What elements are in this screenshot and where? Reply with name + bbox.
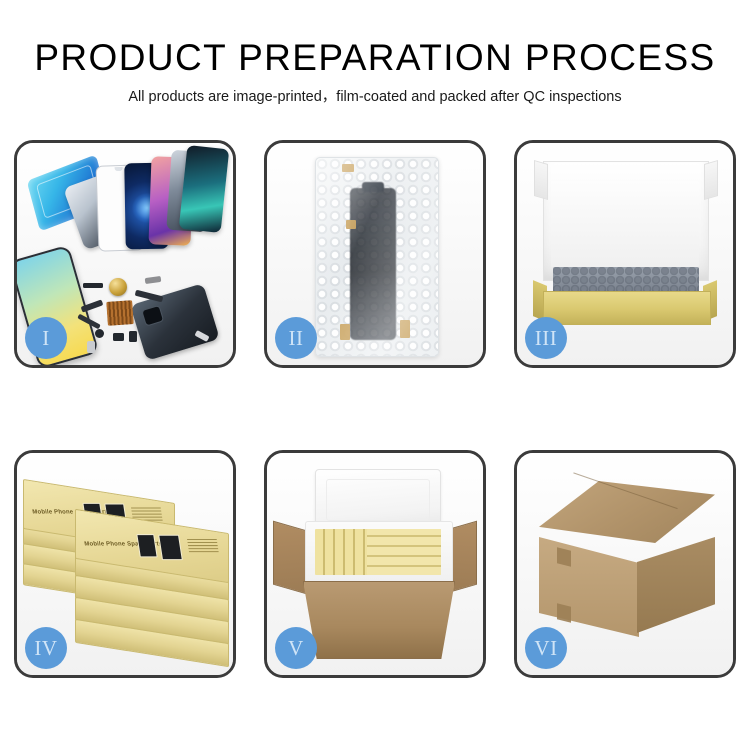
tape-middle <box>346 220 356 229</box>
wrapped-phone-part <box>350 188 396 340</box>
process-step-grid: I II <box>14 140 736 678</box>
inner-box-front <box>543 291 711 325</box>
step-badge-1: I <box>25 317 67 359</box>
step-5-photo: V <box>267 453 483 675</box>
bracket-part <box>129 331 137 342</box>
carton-side-face <box>637 537 715 633</box>
process-step-6: VI <box>514 450 736 678</box>
chip-part <box>83 283 103 288</box>
step-badge-6: VI <box>525 627 567 669</box>
tape-bottom-right <box>400 320 410 338</box>
speaker-module <box>109 278 127 296</box>
step-badge-3: III <box>525 317 567 359</box>
logic-board <box>106 300 134 326</box>
process-step-1: I <box>14 140 236 368</box>
foam-sheet <box>551 181 699 267</box>
process-step-5: V <box>264 450 486 678</box>
step-3-photo: III <box>517 143 733 365</box>
page-title: PRODUCT PREPARATION PROCESS <box>0 36 750 80</box>
step-6-photo: VI <box>517 453 733 675</box>
page-subtitle: All products are image-printed，film-coat… <box>0 87 750 107</box>
camera-part <box>113 333 124 341</box>
packed-boxes-row <box>367 529 441 575</box>
tape-top <box>342 164 354 172</box>
process-step-3: III <box>514 140 736 368</box>
button-part <box>95 329 104 338</box>
step-badge-2: II <box>275 317 317 359</box>
step-1-photo: I <box>17 143 233 365</box>
connector-part <box>145 276 162 284</box>
box-label-thumb <box>158 535 183 560</box>
product-preparation-process-page: PRODUCT PREPARATION PROCESS All products… <box>0 0 750 750</box>
tape-bottom-left <box>340 324 350 340</box>
carton-tape-upper <box>557 547 571 566</box>
process-step-2: II <box>264 140 486 368</box>
phone-teal-wallpaper <box>179 145 230 233</box>
box-label-specs <box>187 539 219 554</box>
box-label-thumb <box>136 534 157 557</box>
step-4-photo: Mobile Phone Spare Parts Mobile Phone Sp… <box>17 453 233 675</box>
bubble-wrap-bag <box>315 157 439 357</box>
header: PRODUCT PREPARATION PROCESS All products… <box>0 36 750 107</box>
carton-body <box>303 581 455 659</box>
carton-front-face <box>539 537 639 637</box>
carton-tape-lower <box>557 603 571 622</box>
step-badge-4: IV <box>25 627 67 669</box>
process-step-4: Mobile Phone Spare Parts Mobile Phone Sp… <box>14 450 236 678</box>
step-2-photo: II <box>267 143 483 365</box>
step-badge-5: V <box>275 627 317 669</box>
sim-tray-part <box>87 341 95 353</box>
